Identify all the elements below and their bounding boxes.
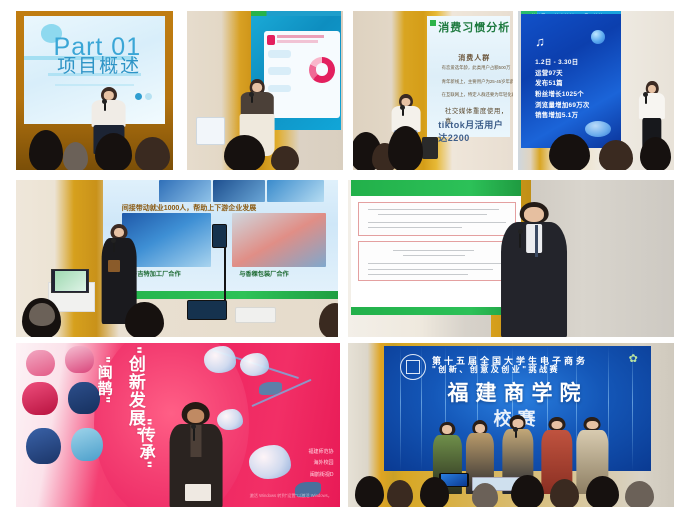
flower-icon [240,353,269,376]
poster-title-line: "闽鹊" [94,356,115,404]
slide-subtitle: 消费人群 [458,53,490,63]
donut-chart [309,57,335,83]
document-block [358,241,516,281]
side-monitor [51,269,88,293]
slide-stat: 1.2日 - 3.30日 [535,57,578,66]
legend-pill-2 [268,67,291,75]
decorative-sphere [591,30,605,44]
slide-title-cn: 项目概述 [57,51,141,78]
poster-side-text: 海外校园 [314,459,334,466]
flower-icon [249,445,291,479]
photo-group-competition-stage[interactable]: 第十五届全国大学生电子商务 "创新、创意及创业"挑战赛 福建商学院 校赛 ✿ [348,343,674,507]
photo-presenter-project-intro-slide[interactable] [187,11,343,170]
slide-bullet: 有恋爱选年龄，此类用户占额500万 [442,65,511,71]
slide-green-bottom [351,307,521,315]
held-paper [185,484,211,501]
phone-on-tripod [212,224,227,248]
scene: Part 01 项目概述 [16,11,173,170]
opera-doll-icon [26,428,62,464]
backdrop-line-3: 福建商学院 [448,377,588,407]
slide-caption: 与香稞包装厂合作 [239,269,289,278]
slide-photo [213,180,265,202]
audience-row [16,135,173,170]
photo-presenter-minque-poster[interactable]: "创新发展" "闽鹊" "传承" 福建师范协 海外校园 闽鹊街视D 激活 Win… [16,343,340,507]
photo-collage: Part 01 项目概述 [0,0,690,518]
school-emblem-icon [400,354,426,380]
slide-stat: 粉丝增长1025个 [535,89,584,98]
windows-activation-watermark: 激活 Windows 转到"设置"以激活 Windows。 [250,493,332,499]
slide-bullet: 在互联网上，特定人群还要为年轻化群体 [442,92,513,98]
scene: 消费习惯分析 消费人群 有恋爱选年龄，此类用户占额500万 青年新线上，主要用户… [353,11,513,170]
slide-bullet: 青年新线上，主要用户为25-45岁年龄段 [442,79,513,85]
opera-doll-icon [65,346,94,372]
slide-photo [159,180,211,202]
scene: "创新发展" "闽鹊" "传承" 福建师范协 海外校园 闽鹊街视D 激活 Win… [16,343,340,507]
photo-presenter-consumption-habits-slide[interactable]: 消费习惯分析 消费人群 有恋爱选年龄，此类用户占额500万 青年新线上，主要用户… [353,11,513,170]
opera-doll-icon [22,382,58,415]
audience-row [348,474,674,507]
card-sub-line [277,40,318,43]
ribbon-icon: ✿ [629,352,638,365]
slide-stat: 发布51篇 [535,78,563,87]
scene: 第十五届全国大学生电子商务 "创新、创意及创业"挑战赛 福建商学院 校赛 ✿ [348,343,674,507]
projection-screen [351,196,521,309]
card-title-line [277,35,324,38]
photo-presenter-employment-impact-slide[interactable]: 间接带动就业1000人，帮助上下游企业发展 与吉特加工厂合作 与香稞包装厂合作 [16,180,338,337]
douyin-logo-icon: ♫ [535,34,545,49]
card-badge-icon [267,35,275,45]
scene [348,180,674,337]
slide-bar-3 [55,84,134,86]
scene [187,11,343,170]
slide-marker-icon [430,20,436,26]
audience-row [518,138,674,170]
projection-screen: ♫ 1.2日 - 3.30日 运营97天 发布51篇 粉丝增长1025个 浏览量… [521,14,621,148]
photo-presenter-part01-slide[interactable]: Part 01 项目概述 [16,11,173,170]
necktie [535,225,539,257]
document-block [358,202,516,236]
audience-row [16,299,338,337]
scene: 间接带动就业1000人，帮助上下游企业发展 与吉特加工厂合作 与香稞包装厂合作 [16,180,338,337]
presenter-male [498,202,570,337]
presenter [168,402,223,507]
audience-row [187,141,343,170]
slide-stat: 销售增加5.1万 [535,110,578,119]
opera-doll-icon [26,350,55,376]
legend-pill-1 [268,50,291,58]
slide-title: 消费习惯分析 [438,19,510,35]
opera-doll-icon [71,428,103,461]
photo-presenter-douyin-stats-slide[interactable]: 运营效果 社会效益 项目总结 ♫ 1.2日 - 3.30日 运营97天 发布51… [518,11,674,170]
slide-stat: 浏览量增加69万次 [535,100,590,109]
slide-headline: 间接带动就业1000人，帮助上下游企业发展 [122,203,257,213]
clipboard [108,260,120,272]
slide-pager [135,93,152,100]
slide-stat: 运营97天 [535,68,563,77]
poster-title-line: "传承" [133,418,157,469]
poster-side-text: 闽鹊街视D [310,471,334,478]
projection-screen: 消费习惯分析 消费人群 有恋爱选年龄，此类用户占额500万 青年新线上，主要用户… [427,16,510,137]
decorative-sphere [585,121,611,137]
slide-photo [232,213,326,267]
slide-caption: 与吉特加工厂合作 [131,269,181,278]
flower-icon [204,346,236,372]
scene: 运营效果 社会效益 项目总结 ♫ 1.2日 - 3.30日 运营97天 发布51… [518,11,674,170]
photo-presenter-male-document-slide[interactable] [348,180,674,337]
audience-row [353,133,513,170]
poster-side-text: 福建师范协 [309,448,334,455]
slide-photo [267,180,323,202]
backdrop-line-2: "创新、创意及创业"挑战赛 [432,364,560,375]
